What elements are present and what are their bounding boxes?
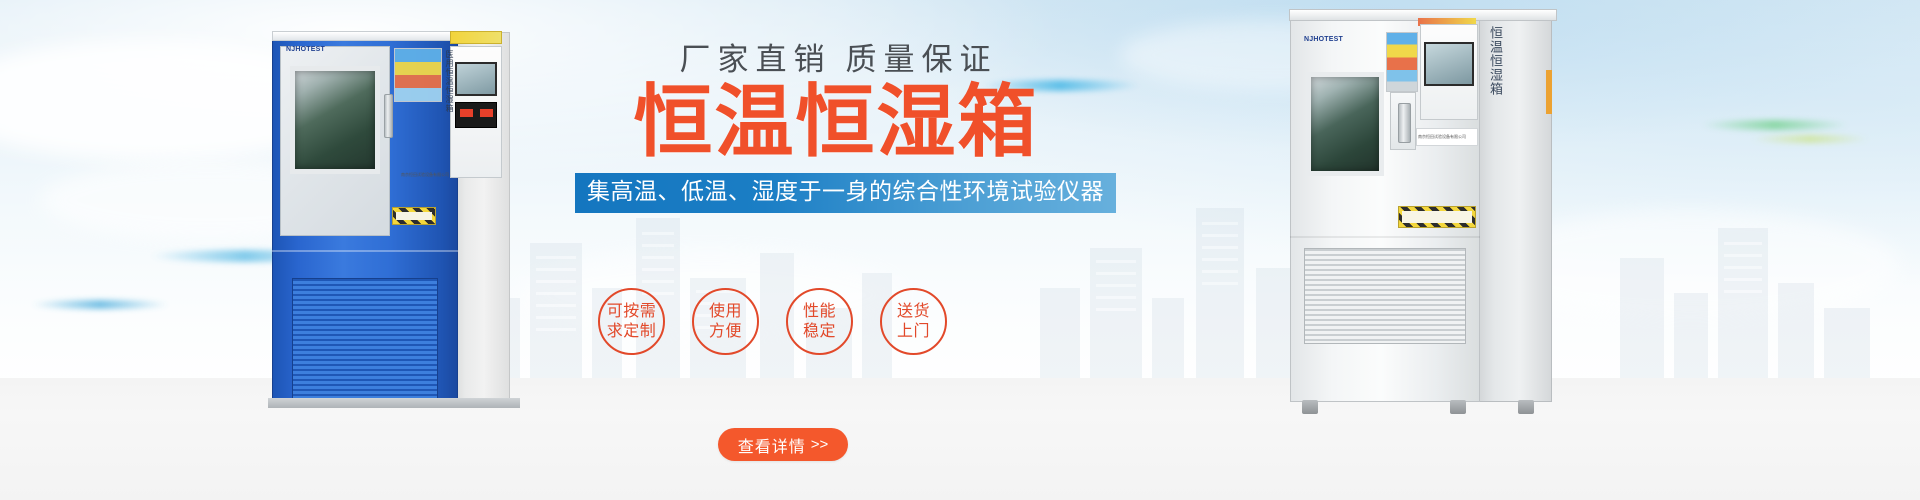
feature-circle-stable-line2: 稳定 [803, 322, 836, 342]
headline: 恒温恒湿箱 [575, 80, 1095, 164]
eyebrow-line: 厂家直销质量保证 [575, 42, 1095, 78]
left-chamber-top-cap [272, 31, 458, 41]
readout-digit-b [480, 109, 493, 117]
feature-circle-stable-line1: 性能 [803, 302, 836, 322]
readout-digit-a [460, 109, 473, 117]
right-chamber-louver-vent [1304, 248, 1466, 344]
product-image-right-chamber: NJHOTEST 恒温恒湿箱 南京恒田试验设备有限公司 [1290, 10, 1552, 402]
feature-circle-easy-use-line2: 方便 [709, 322, 742, 342]
right-chamber-door-handle [1390, 92, 1416, 150]
feature-circle-custom[interactable]: 可按需 求定制 [598, 288, 665, 355]
copy-block: 厂家直销质量保证 恒温恒湿箱 集高温、低温、湿度于一身的综合性环境试验仪器 [575, 42, 1095, 213]
feature-circle-row: 可按需 求定制 使用 方便 性能 稳定 送货 上门 [598, 288, 1068, 355]
feature-circle-custom-line2: 求定制 [607, 322, 657, 342]
left-chamber-hazard-strip [450, 31, 502, 44]
left-chamber-door-handle [384, 94, 393, 138]
right-chamber-lcd-screen [1424, 42, 1474, 86]
feature-circle-delivery-line1: 送货 [897, 302, 930, 322]
eyebrow-text-2: 质量保证 [846, 42, 998, 77]
subtitle-row: 集高温、低温、湿度于一身的综合性环境试验仪器 [575, 163, 1095, 212]
right-chamber-warning-stickers [1386, 32, 1418, 92]
right-chamber-foot-left [1302, 400, 1318, 414]
left-chamber-maker-note: 南京恒田试验设备有限公司 [401, 172, 449, 178]
right-chamber-maker-note: 南京恒田试验设备有限公司 [1418, 134, 1466, 140]
right-chamber-caution-label [1398, 206, 1476, 228]
left-chamber-caution-label [392, 207, 436, 225]
feature-circle-easy-use-line1: 使用 [709, 302, 742, 322]
right-chamber-orange-accent [1546, 70, 1552, 114]
product-image-left-chamber: NJHOTEST 医用恒温恒湿箱 南京恒田试验设备有限公司 [272, 32, 510, 400]
eyebrow-text-1: 厂家直销 [680, 42, 832, 77]
feature-circle-easy-use[interactable]: 使用 方便 [692, 288, 759, 355]
left-chamber-body-seam [272, 250, 458, 252]
left-chamber-view-window [290, 66, 380, 174]
feature-circle-custom-line1: 可按需 [607, 302, 657, 322]
view-details-button[interactable]: 查看详情 >> [718, 428, 848, 461]
left-chamber-digital-readout [455, 102, 497, 128]
left-chamber-vertical-label: 医用恒温恒湿箱 [444, 50, 455, 113]
feature-circle-delivery-line2: 上门 [897, 322, 930, 342]
feature-circle-delivery[interactable]: 送货 上门 [880, 288, 947, 355]
double-chevron-right-icon: >> [811, 436, 829, 453]
right-chamber-vertical-label: 恒温恒湿箱 [1486, 26, 1505, 96]
view-details-label: 查看详情 [738, 433, 806, 457]
right-chamber-brand-logo: NJHOTEST [1304, 36, 1343, 43]
sky-streak-3 [1700, 120, 1850, 130]
left-chamber-warning-stickers [394, 48, 442, 102]
right-chamber-foot-side [1518, 400, 1534, 414]
left-chamber-brand-logo: NJHOTEST [286, 46, 325, 53]
right-chamber-view-window [1306, 72, 1384, 176]
right-chamber-body-seam [1290, 236, 1480, 238]
left-chamber-base [268, 398, 520, 408]
left-chamber-louver-vent [292, 278, 438, 400]
sky-streak-4 [1750, 135, 1870, 143]
right-chamber-foot-right [1450, 400, 1466, 414]
subtitle-bar: 集高温、低温、湿度于一身的综合性环境试验仪器 [575, 173, 1116, 212]
left-chamber-lcd-screen [455, 62, 497, 96]
promo-banner: NJHOTEST 医用恒温恒湿箱 南京恒田试验设备有限公司 NJHOTEST 恒… [0, 0, 1920, 500]
feature-circle-stable[interactable]: 性能 稳定 [786, 288, 853, 355]
